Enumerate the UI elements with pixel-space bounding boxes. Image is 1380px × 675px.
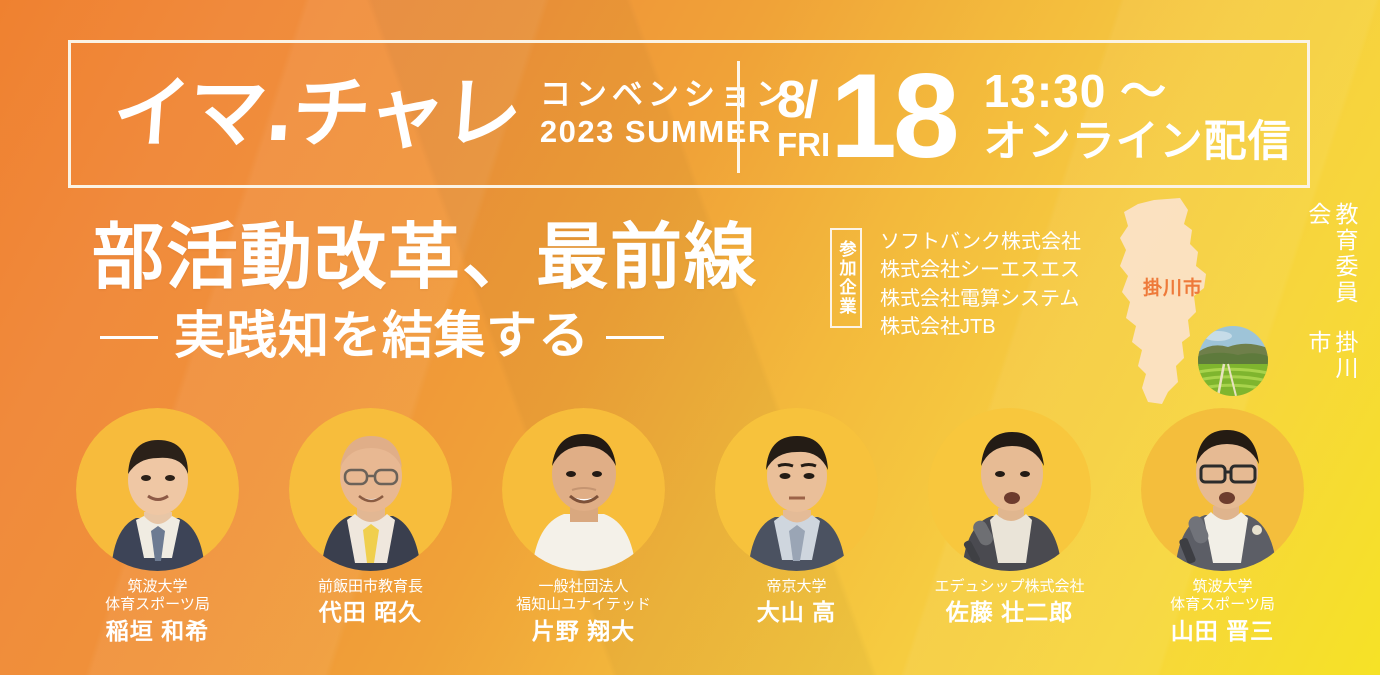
avatar [715, 408, 878, 571]
speaker-org-line: 体育スポーツ局 [105, 596, 210, 614]
event-logo: イマ.チャレ コンベンション 2023 SUMMER [113, 75, 792, 153]
participating-companies-list: ソフトバンク株式会社 株式会社シーエスエス 株式会社電算システム 株式会社JTB [880, 228, 1081, 342]
education-board-line-2: 教育委員会 [1304, 202, 1358, 328]
date-month: 8/ [777, 74, 830, 126]
avatar [928, 408, 1091, 571]
logo-wordmark: イマ.チャレ [110, 75, 522, 153]
logo-subtitle-jp: コンベンション [540, 77, 792, 114]
speaker-info: 前飯田市教育長 代田 昭久 [318, 578, 423, 626]
avatar [1141, 408, 1304, 571]
map-city-label: 掛川市 [1143, 273, 1203, 300]
speaker-card: 帝京大学 大山 高 [706, 408, 888, 645]
speaker-info: 一般社団法人 福知山ユナイテッド 片野 翔大 [516, 578, 651, 645]
speaker-org-line: 筑波大学 [1170, 578, 1275, 596]
speaker-org-line: 筑波大学 [105, 578, 210, 596]
speaker-name: 代田 昭久 [318, 598, 423, 626]
date-day-number: 18 [830, 57, 955, 171]
company-item: ソフトバンク株式会社 [880, 228, 1081, 256]
speaker-name: 片野 翔大 [516, 617, 651, 645]
education-board-label: 教育委員会 掛川市 [1304, 202, 1358, 406]
location-block: 掛川市 教育委員会 掛川市 [1118, 196, 1380, 406]
speaker-org-line: エデュシップ株式会社 [934, 578, 1084, 596]
header-frame: イマ.チャレ コンベンション 2023 SUMMER 8/ FRI 18 13:… [68, 40, 1310, 188]
tea-field-photo [1198, 326, 1268, 396]
logo-subtitle-en: 2023 SUMMER [540, 114, 792, 151]
title-block: 部活動改革、最前線 実践知を結集する [92, 222, 758, 363]
page-subtitle-row: 実践知を結集する [100, 312, 758, 363]
speaker-name: 山田 晋三 [1170, 617, 1275, 645]
event-date-time: 8/ FRI 18 13:30 ～ オンライン配信 [777, 43, 1292, 185]
speaker-org-line: 一般社団法人 [516, 578, 651, 596]
event-poster: イマ.チャレ コンベンション 2023 SUMMER 8/ FRI 18 13:… [0, 0, 1380, 675]
speaker-card: 筑波大学 体育スポーツ局 山田 晋三 [1132, 408, 1314, 645]
speaker-card: 前飯田市教育長 代田 昭久 [280, 408, 462, 645]
avatar [76, 408, 239, 571]
participating-companies-tag: 参加企業 [830, 228, 862, 328]
time-and-delivery: 13:30 ～ オンライン配信 [984, 62, 1292, 166]
page-title: 部活動改革、最前線 [92, 222, 758, 294]
speaker-card: 筑波大学 体育スポーツ局 稲垣 和希 [67, 408, 249, 645]
dash-right-icon [606, 336, 664, 339]
speaker-org-line: 福知山ユナイテッド [516, 596, 651, 614]
company-item: 株式会社JTB [880, 313, 1081, 341]
speaker-info: 帝京大学 大山 高 [757, 578, 836, 626]
avatar [502, 408, 665, 571]
dash-left-icon [100, 336, 158, 339]
page-subtitle: 実践知を結集する [174, 312, 590, 363]
header-vertical-divider [737, 61, 740, 173]
speaker-info: エデュシップ株式会社 佐藤 壮二郎 [934, 578, 1084, 626]
speaker-info: 筑波大学 体育スポーツ局 山田 晋三 [1170, 578, 1275, 645]
speaker-info: 筑波大学 体育スポーツ局 稲垣 和希 [105, 578, 210, 645]
speaker-name: 大山 高 [757, 598, 836, 626]
date-month-dow: 8/ FRI [777, 68, 830, 161]
speaker-name: 佐藤 壮二郎 [934, 598, 1084, 626]
speaker-org-line: 帝京大学 [757, 578, 836, 596]
participating-companies: 参加企業 ソフトバンク株式会社 株式会社シーエスエス 株式会社電算システム 株式… [830, 228, 1081, 342]
start-time: 13:30 ～ [984, 66, 1292, 118]
avatar [289, 408, 452, 571]
header-content: イマ.チャレ コンベンション 2023 SUMMER 8/ FRI 18 13:… [71, 43, 1307, 185]
speaker-list: 筑波大学 体育スポーツ局 稲垣 和希 [0, 408, 1380, 645]
company-item: 株式会社電算システム [880, 285, 1081, 313]
speaker-card: エデュシップ株式会社 佐藤 壮二郎 [919, 408, 1101, 645]
date-day-of-week: FRI [777, 128, 830, 161]
speaker-org-line: 前飯田市教育長 [318, 578, 423, 596]
logo-subtitle-group: コンベンション 2023 SUMMER [540, 77, 792, 150]
speaker-card: 一般社団法人 福知山ユナイテッド 片野 翔大 [493, 408, 675, 645]
delivery-method: オンライン配信 [984, 118, 1292, 166]
company-item: 株式会社シーエスエス [880, 256, 1081, 284]
speaker-org-line: 体育スポーツ局 [1170, 596, 1275, 614]
education-board-line-1: 掛川市 [1304, 330, 1358, 406]
speaker-name: 稲垣 和希 [105, 617, 210, 645]
